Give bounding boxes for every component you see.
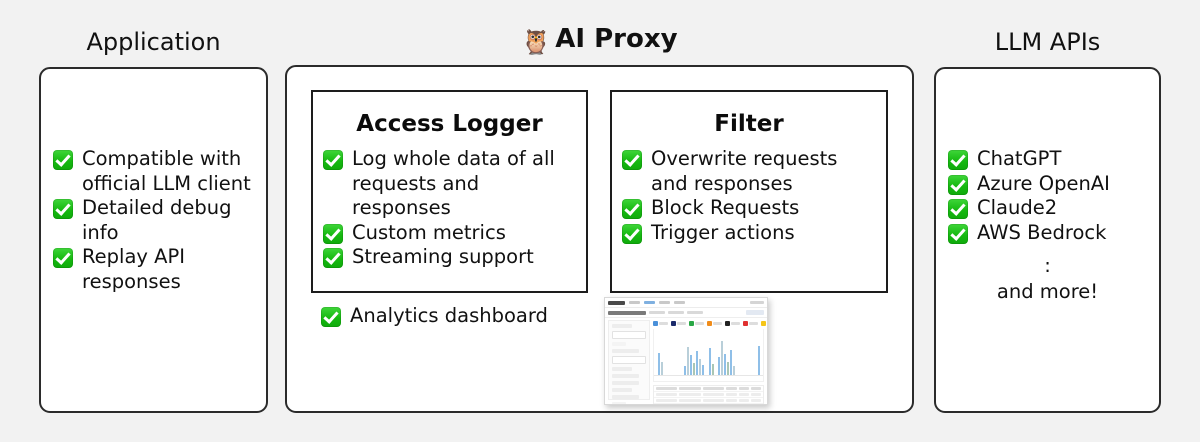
table-row xyxy=(654,404,763,405)
column-header-llm-apis: LLM APIs xyxy=(934,27,1161,57)
table-cell xyxy=(679,387,700,390)
check-mark-green-icon xyxy=(53,199,73,219)
list-item-label: Replay API responses xyxy=(82,245,261,294)
legend-entry xyxy=(707,321,722,326)
thumbnail-action-button xyxy=(746,310,764,315)
thumbnail-field xyxy=(612,402,626,405)
chart-bar xyxy=(733,366,735,375)
legend-swatch xyxy=(689,321,694,326)
chart-bar xyxy=(699,359,701,375)
list-item-label: AWS Bedrock xyxy=(977,221,1152,246)
table-cell xyxy=(726,387,736,390)
check-mark-green-icon xyxy=(622,150,642,170)
list-item: AWS Bedrock xyxy=(948,221,1152,246)
check-mark-green-icon xyxy=(53,248,73,268)
legend-swatch xyxy=(725,321,730,326)
list-item: Log whole data of all requests and respo… xyxy=(323,147,577,221)
thumbnail-field xyxy=(612,356,646,364)
thumbnail-nav-item xyxy=(674,301,685,304)
check-mark-green-icon xyxy=(53,150,73,170)
diagram-root: Application 🦉AI Proxy LLM APIs Compatibl… xyxy=(0,0,1200,442)
thumbnail-field xyxy=(612,342,626,346)
legend-text xyxy=(749,322,758,325)
list-item: Block Requests xyxy=(622,196,877,221)
thumbnail-field xyxy=(612,324,632,328)
chart-bar xyxy=(687,347,689,375)
legend-text xyxy=(767,322,768,325)
table-cell xyxy=(703,393,724,396)
list-item-label: Overwrite requests and responses xyxy=(651,147,877,196)
legend-text xyxy=(659,322,668,325)
application-panel: Compatible with official LLM client Deta… xyxy=(39,67,268,413)
thumbnail-field xyxy=(612,388,632,392)
list-item: Azure OpenAI xyxy=(948,172,1152,197)
legend-swatch xyxy=(653,321,658,326)
check-mark-green-icon xyxy=(622,199,642,219)
table-cell xyxy=(726,399,736,402)
legend-entry xyxy=(725,321,740,326)
thumbnail-field xyxy=(612,374,639,378)
thumbnail-data-table xyxy=(653,385,764,405)
check-mark-green-icon xyxy=(323,248,343,268)
thumbnail-logo xyxy=(608,301,625,305)
chart-bar xyxy=(724,354,726,375)
table-cell xyxy=(656,387,677,390)
chart-bar xyxy=(709,348,711,375)
table-cell xyxy=(739,393,749,396)
list-item-label: Log whole data of all requests and respo… xyxy=(352,147,577,221)
thumbnail-breadcrumb-title xyxy=(608,311,646,315)
chart-bar xyxy=(696,351,698,375)
list-item-label: Block Requests xyxy=(651,196,877,221)
analytics-dashboard-label: Analytics dashboard xyxy=(350,304,591,329)
list-item: ChatGPT xyxy=(948,147,1152,172)
table-cell xyxy=(656,399,677,402)
legend-entry xyxy=(671,321,686,326)
analytics-dashboard-thumbnail xyxy=(604,297,768,405)
chart-bar xyxy=(712,364,714,375)
thumbnail-breadcrumb-crumb xyxy=(649,311,665,314)
list-item-label: Custom metrics xyxy=(352,221,577,246)
legend-text xyxy=(677,322,686,325)
column-header-ai-proxy-label: AI Proxy xyxy=(555,24,677,54)
list-item-label: Claude2 xyxy=(977,196,1152,221)
list-item: Analytics dashboard xyxy=(321,304,591,329)
thumbnail-field xyxy=(612,367,632,371)
table-cell xyxy=(679,399,700,402)
and-more-block: : and more! xyxy=(936,253,1159,305)
list-item: Custom metrics xyxy=(323,221,577,246)
application-feature-list: Compatible with official LLM client Deta… xyxy=(53,147,261,294)
thumbnail-breadcrumb xyxy=(605,308,767,318)
thumbnail-bar-chart xyxy=(653,329,764,382)
thumbnail-filter-sidebar xyxy=(608,320,650,400)
table-cell xyxy=(751,393,761,396)
chart-axis xyxy=(654,375,763,376)
legend-text xyxy=(731,322,740,325)
legend-swatch xyxy=(707,321,712,326)
legend-swatch xyxy=(761,321,766,326)
thumbnail-nav-item xyxy=(629,301,640,304)
chart-bar xyxy=(730,350,732,375)
chart-bar xyxy=(721,341,723,375)
column-header-application: Application xyxy=(39,27,268,57)
thumbnail-topbar xyxy=(605,298,767,308)
legend-entry xyxy=(653,321,668,326)
llm-apis-panel: ChatGPT Azure OpenAI Claude2 AWS Bedrock… xyxy=(934,67,1161,413)
list-item-label: Trigger actions xyxy=(651,221,877,246)
chart-bar xyxy=(684,366,686,375)
legend-swatch xyxy=(671,321,676,326)
legend-swatch xyxy=(743,321,748,326)
filter-title: Filter xyxy=(612,111,886,137)
chart-bar xyxy=(661,362,663,375)
table-cell xyxy=(751,387,761,390)
analytics-dashboard-row: Analytics dashboard xyxy=(321,304,591,329)
thumbnail-chart-legend xyxy=(653,320,764,327)
check-mark-green-icon xyxy=(948,199,968,219)
list-item: Compatible with official LLM client xyxy=(53,147,261,196)
legend-entry xyxy=(761,321,768,326)
thumbnail-breadcrumb-crumb xyxy=(668,311,684,314)
thumbnail-field xyxy=(612,381,639,385)
llm-apis-list: ChatGPT Azure OpenAI Claude2 AWS Bedrock xyxy=(948,147,1152,245)
list-item: Replay API responses xyxy=(53,245,261,294)
list-item-label: Detailed debug info xyxy=(82,196,261,245)
list-item-label: Azure OpenAI xyxy=(977,172,1152,197)
chart-bar xyxy=(702,365,704,375)
chart-bar xyxy=(658,353,660,375)
access-logger-feature-list: Log whole data of all requests and respo… xyxy=(313,147,586,270)
thumbnail-breadcrumb-crumb xyxy=(687,311,703,314)
table-cell xyxy=(703,387,724,390)
legend-text xyxy=(695,322,704,325)
thumbnail-field xyxy=(612,331,646,339)
check-mark-green-icon xyxy=(323,150,343,170)
thumbnail-nav-right xyxy=(750,301,764,304)
chart-bar xyxy=(758,346,760,375)
list-item-label: Compatible with official LLM client xyxy=(82,147,261,196)
table-cell xyxy=(703,399,724,402)
thumbnail-field xyxy=(612,395,639,399)
legend-entry xyxy=(743,321,758,326)
check-mark-green-icon xyxy=(323,224,343,244)
list-item-label: Streaming support xyxy=(352,245,577,270)
table-cell xyxy=(751,399,761,402)
and-more-label: and more! xyxy=(997,280,1098,303)
check-mark-green-icon xyxy=(622,224,642,244)
table-cell xyxy=(679,393,700,396)
legend-text xyxy=(713,322,722,325)
legend-entry xyxy=(689,321,704,326)
access-logger-title: Access Logger xyxy=(313,111,586,137)
table-cell xyxy=(726,393,736,396)
chart-bar xyxy=(718,357,720,375)
chart-bar xyxy=(690,355,692,375)
table-cell xyxy=(656,393,677,396)
list-item: Streaming support xyxy=(323,245,577,270)
list-item: Claude2 xyxy=(948,196,1152,221)
list-item-label: ChatGPT xyxy=(977,147,1152,172)
thumbnail-nav-item xyxy=(659,301,670,304)
table-cell xyxy=(739,399,749,402)
filter-box: Filter Overwrite requests and responses … xyxy=(610,90,888,293)
list-item: Overwrite requests and responses xyxy=(622,147,877,196)
list-item: Detailed debug info xyxy=(53,196,261,245)
thumbnail-main-area xyxy=(653,320,764,400)
owl-icon: 🦉 xyxy=(521,27,551,57)
check-mark-green-icon xyxy=(948,224,968,244)
filter-feature-list: Overwrite requests and responses Block R… xyxy=(612,147,886,245)
check-mark-green-icon xyxy=(948,175,968,195)
access-logger-box: Access Logger Log whole data of all requ… xyxy=(311,90,588,293)
column-header-ai-proxy: 🦉AI Proxy xyxy=(285,24,914,57)
list-item: Trigger actions xyxy=(622,221,877,246)
chart-bar xyxy=(727,362,729,375)
thumbnail-field xyxy=(612,349,639,353)
thumbnail-nav-item xyxy=(644,301,655,304)
ellipsis-marker: : xyxy=(936,253,1159,279)
check-mark-green-icon xyxy=(948,150,968,170)
check-mark-green-icon xyxy=(321,307,341,327)
table-cell xyxy=(739,387,749,390)
chart-bar xyxy=(693,363,695,375)
